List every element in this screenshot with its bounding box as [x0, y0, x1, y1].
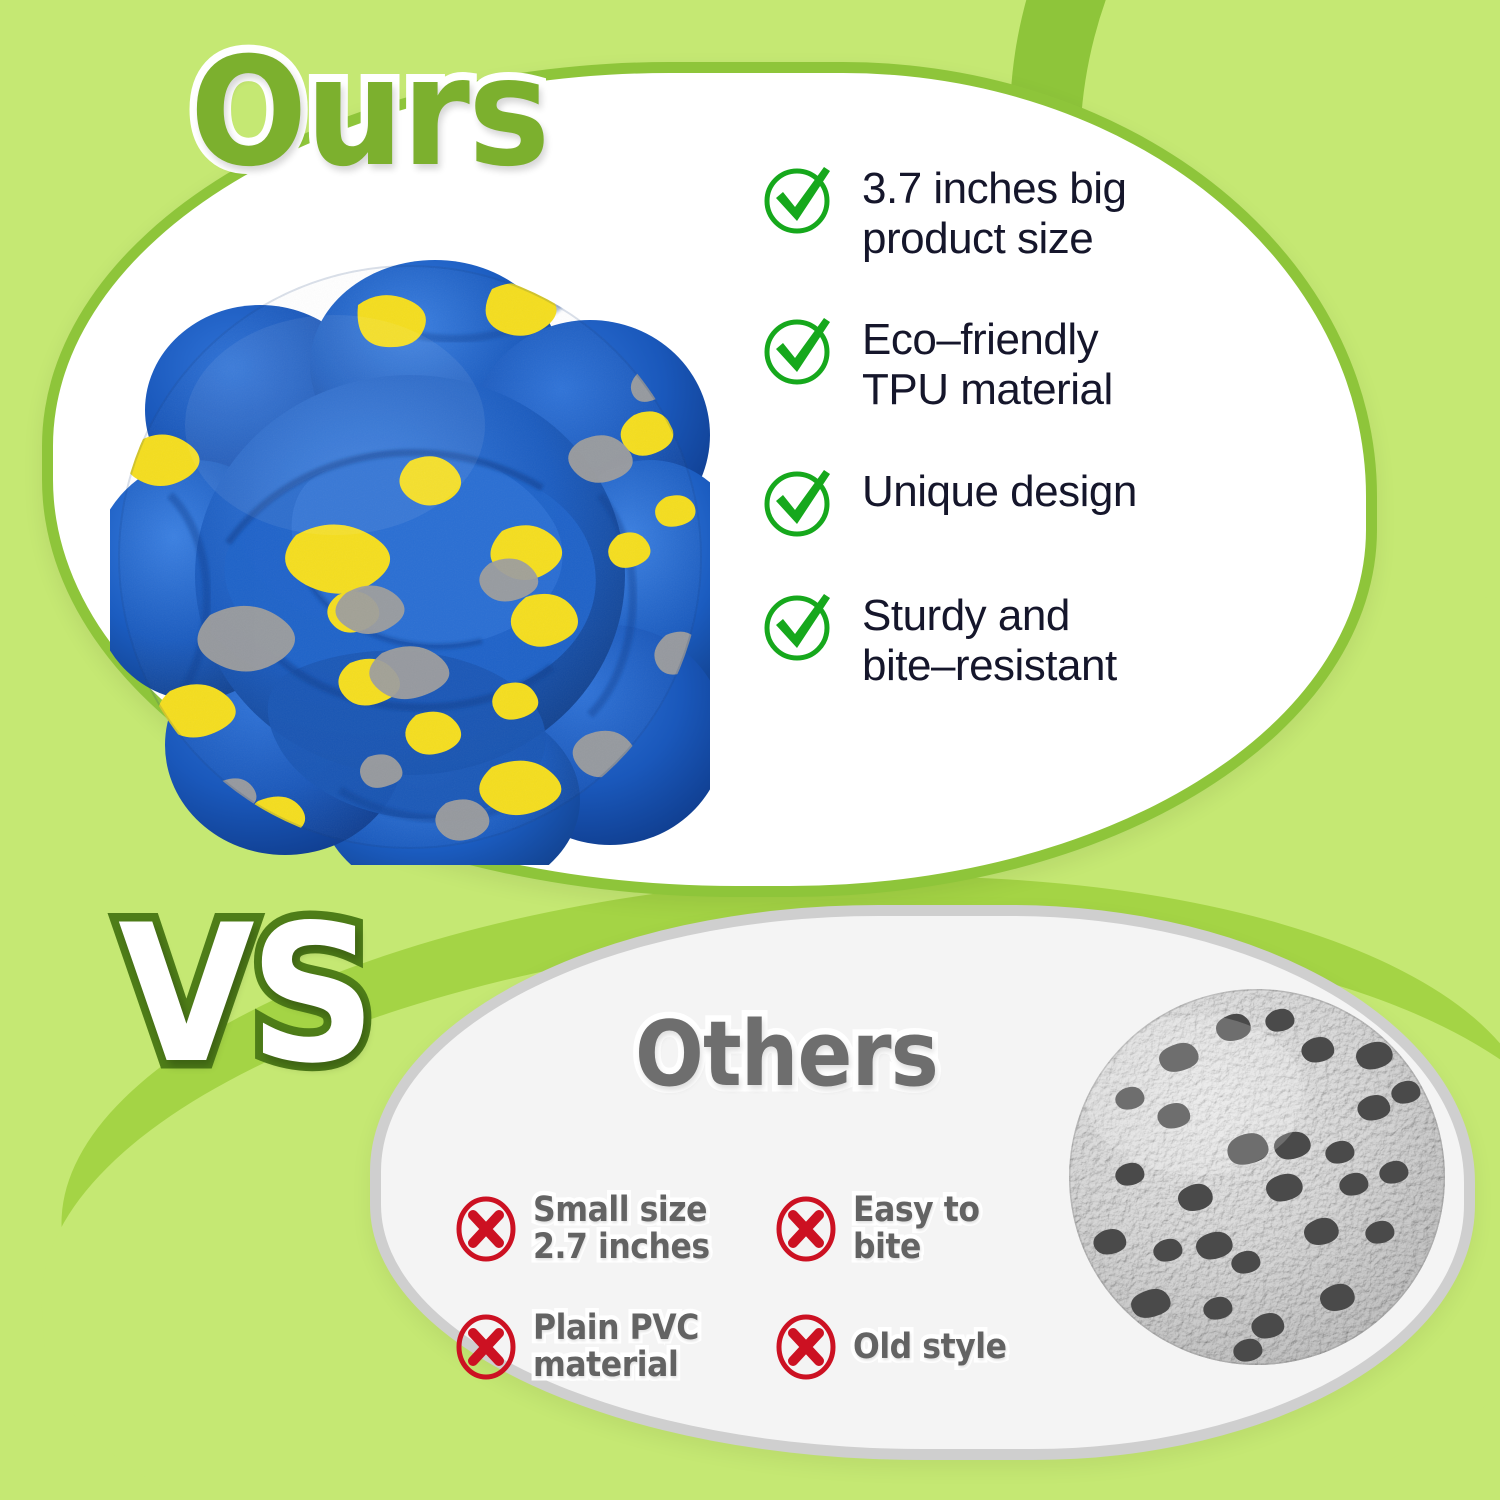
check-circle-icon	[762, 465, 836, 539]
pro-item-label: Eco–friendly TPU material	[862, 311, 1113, 414]
versus-label: VS	[118, 900, 371, 1090]
con-item-label: Easy to bite	[853, 1192, 1053, 1266]
pros-list: 3.7 inches big product size Eco–friendly…	[762, 160, 1232, 690]
con-item: Old style	[775, 1296, 1075, 1398]
cons-list: Small size 2.7 inches Easy to bite Plain…	[455, 1178, 1075, 1398]
pro-item: Eco–friendly TPU material	[762, 311, 1232, 414]
con-item: Easy to bite	[775, 1178, 1075, 1280]
check-circle-icon	[762, 313, 836, 387]
others-title: Others	[635, 1010, 938, 1100]
pro-item: Unique design	[762, 463, 1232, 539]
pro-item-label: Sturdy and bite–resistant	[862, 587, 1117, 690]
check-circle-icon	[762, 589, 836, 663]
cross-circle-icon	[775, 1195, 837, 1263]
check-circle-icon	[762, 162, 836, 236]
blue-braided-ball-image	[110, 245, 710, 865]
pro-item: Sturdy and bite–resistant	[762, 587, 1232, 690]
gray-speckled-ball-image	[1065, 985, 1450, 1370]
con-item-label: Small size 2.7 inches	[533, 1192, 710, 1266]
con-item: Small size 2.7 inches	[455, 1178, 755, 1280]
con-item-label: Plain PVC material	[533, 1310, 699, 1384]
pro-item: 3.7 inches big product size	[762, 160, 1232, 263]
pro-item-label: Unique design	[862, 463, 1137, 517]
con-item-label: Old style	[853, 1329, 1007, 1366]
cross-circle-icon	[775, 1313, 837, 1381]
pro-item-label: 3.7 inches big product size	[862, 160, 1127, 263]
cross-circle-icon	[455, 1195, 517, 1263]
cross-circle-icon	[455, 1313, 517, 1381]
ours-title: Ours	[190, 38, 548, 188]
con-item: Plain PVC material	[455, 1296, 755, 1398]
comparison-infographic: Ours 3.7 inches big product size Eco–fri…	[0, 0, 1500, 1500]
